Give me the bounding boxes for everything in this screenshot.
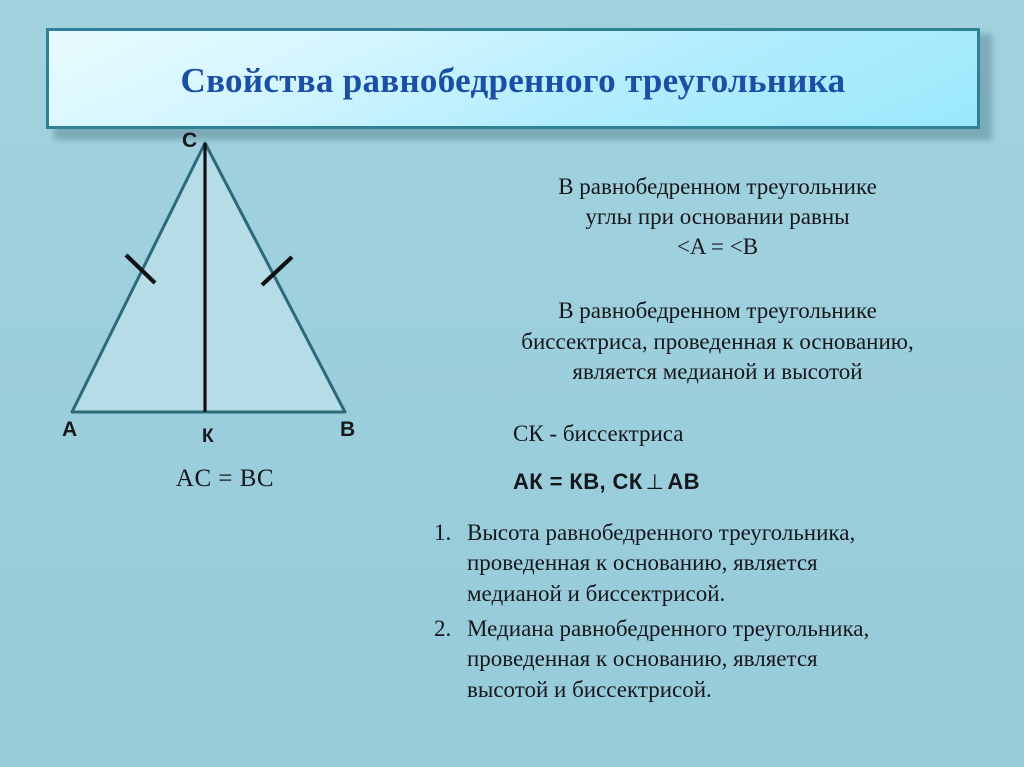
list-item: 2. Медиана равнобедренного треугольника,… [425, 614, 1024, 705]
statement-base-angles-formula: <A = <B [425, 232, 1010, 262]
statement-base-angles-line-2: углы при основании равны [425, 202, 1010, 232]
bisector-note: СК - биссектриса [425, 421, 1010, 447]
title-banner: Свойства равнобедренного треугольника [46, 28, 980, 129]
perpendicular-formula: АК = КВ, СК⊥АВ [425, 469, 1010, 495]
vertex-label-k: К [202, 427, 214, 446]
list-item: 1. Высота равнобедренного треугольника, … [425, 518, 1024, 609]
list-item-line: высотой и биссектрисой. [467, 675, 1024, 705]
properties-numbered-list: 1. Высота равнобедренного треугольника, … [425, 518, 1024, 710]
list-item-line: проведенная к основанию, является [467, 644, 1024, 674]
vertex-label-a: A [62, 419, 77, 440]
page-title: Свойства равнобедренного треугольника [49, 61, 977, 101]
list-item-marker: 1. [425, 518, 467, 548]
figure-caption: AC = BC [30, 465, 420, 493]
spacer [425, 262, 1010, 296]
vertex-label-c: C [182, 130, 197, 151]
list-item-line: медианой и биссектрисой. [467, 579, 1024, 609]
statement-bisector-line-2: биссектриса, проведенная к основанию, [425, 327, 1010, 357]
perpendicular-icon: ⊥ [643, 471, 668, 494]
triangle-svg [30, 125, 420, 455]
triangle-shape [72, 143, 345, 412]
vertex-label-b: B [340, 419, 355, 440]
statement-bisector: В равнобедренном треугольнике биссектрис… [425, 296, 1010, 386]
list-item-body: Высота равнобедренного треугольника, про… [467, 518, 1024, 609]
spacer [425, 387, 1010, 421]
statements-column: В равнобедренном треугольнике углы при о… [425, 172, 1010, 495]
list-item-body: Медиана равнобедренного треугольника, пр… [467, 614, 1024, 705]
statement-bisector-line-3: является медианой и высотой [425, 357, 1010, 387]
list-item-line: проведенная к основанию, является [467, 548, 1024, 578]
statement-base-angles: В равнобедренном треугольнике углы при о… [425, 172, 1010, 262]
perpendicular-formula-right: АВ [667, 469, 700, 494]
statement-bisector-line-1: В равнобедренном треугольнике [425, 296, 1010, 326]
statement-base-angles-line-1: В равнобедренном треугольнике [425, 172, 1010, 202]
spacer [425, 447, 1010, 469]
triangle-figure: C A B К AC = BC [30, 125, 420, 525]
list-item-line: Медиана равнобедренного треугольника, [467, 614, 1024, 644]
list-item-marker: 2. [425, 614, 467, 644]
perpendicular-formula-left: АК = КВ, СК [513, 469, 643, 494]
list-item-line: Высота равнобедренного треугольника, [467, 518, 1024, 548]
slide-canvas: Свойства равнобедренного треугольника C … [0, 0, 1024, 767]
